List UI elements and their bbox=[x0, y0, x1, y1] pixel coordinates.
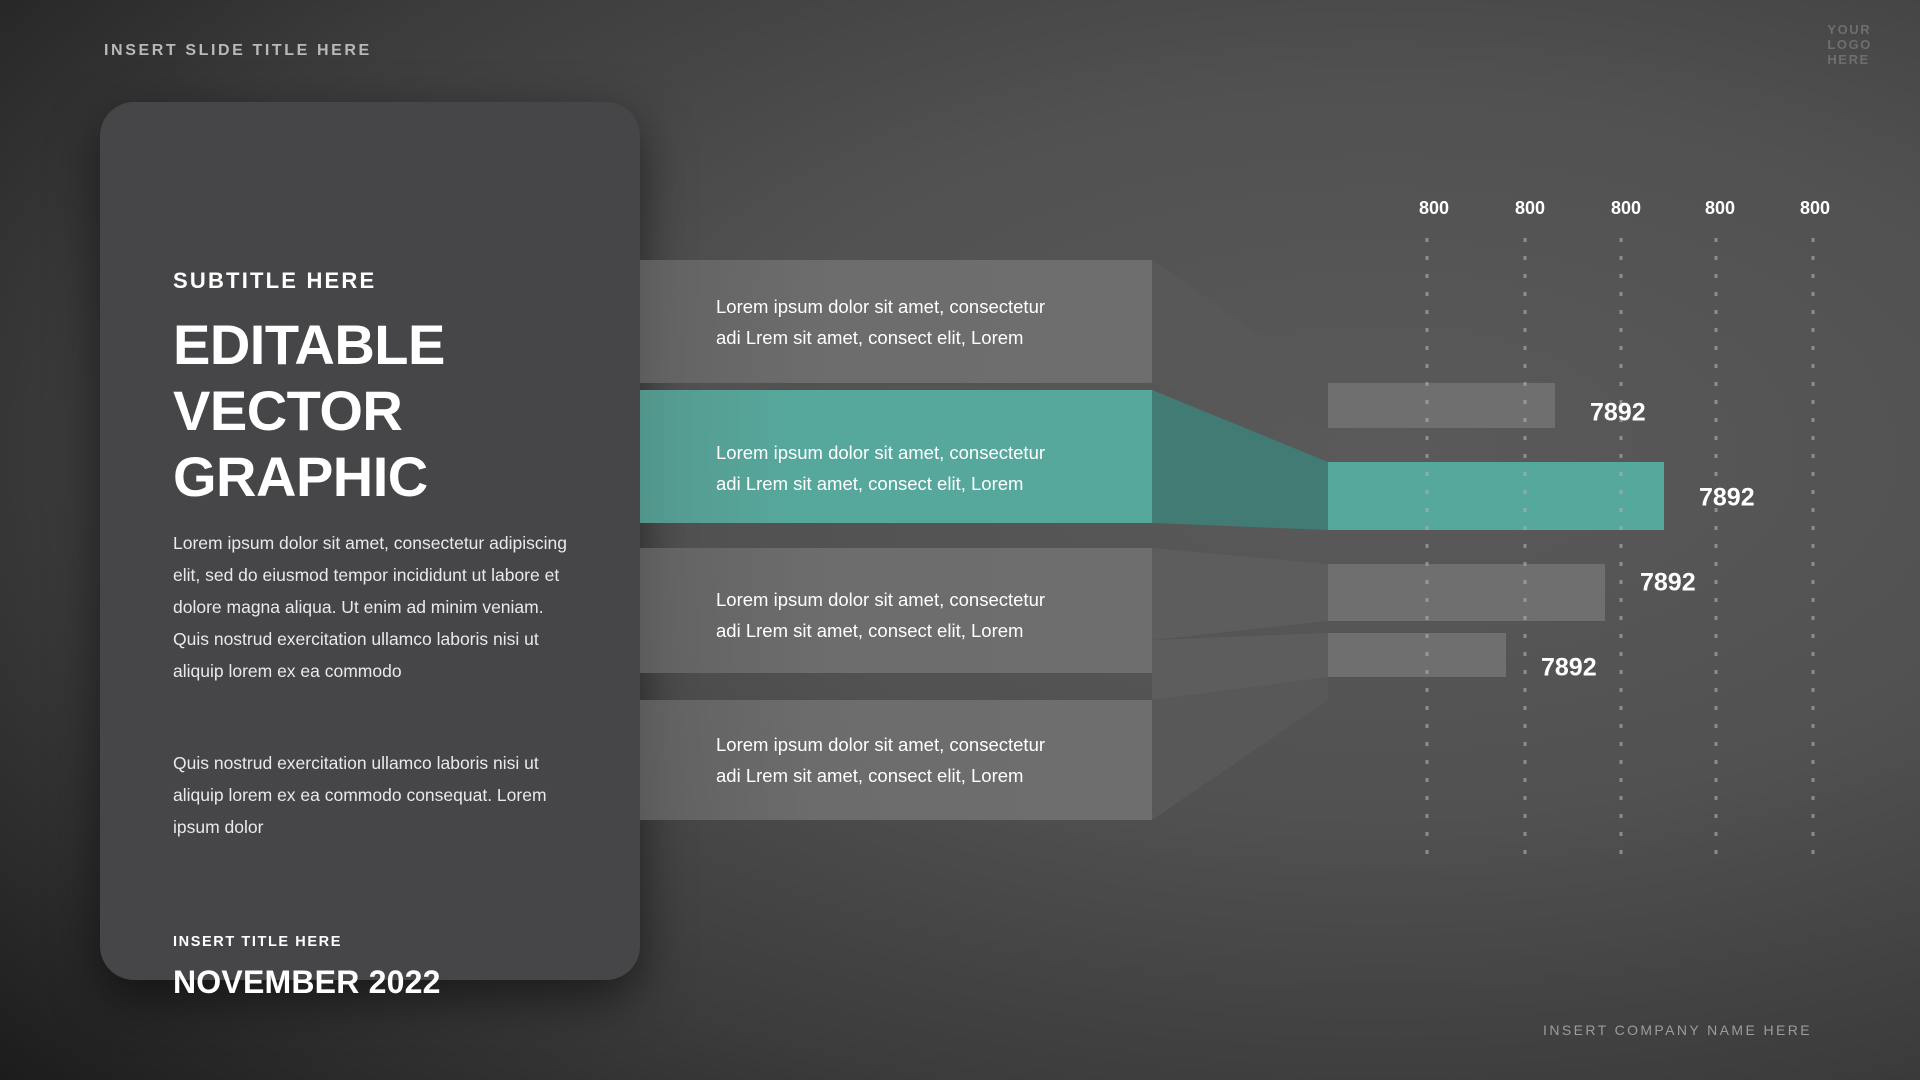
axis-tick-5: 800 bbox=[1800, 198, 1830, 219]
funnel-row-2-bar bbox=[1328, 462, 1664, 530]
bar-value-1: 7892 bbox=[1590, 399, 1646, 428]
bar-value-2: 7892 bbox=[1699, 484, 1755, 513]
funnel-row-3-connector bbox=[1152, 548, 1328, 640]
gridline-5 bbox=[1812, 238, 1815, 858]
gridline-3 bbox=[1620, 238, 1623, 858]
axis-tick-1: 800 bbox=[1419, 198, 1449, 219]
funnel-row-3-label-line-2: adi Lrem sit amet, consect elit, Lorem bbox=[716, 615, 1045, 646]
funnel-row-2-label: Lorem ipsum dolor sit amet, consectetur … bbox=[716, 437, 1045, 499]
funnel-row-3-label: Lorem ipsum dolor sit amet, consectetur … bbox=[716, 584, 1045, 646]
funnel-row-1-bar bbox=[1328, 383, 1555, 428]
funnel-row-4-label-line-1: Lorem ipsum dolor sit amet, consectetur bbox=[716, 729, 1045, 760]
gridline-1 bbox=[1426, 238, 1429, 858]
funnel-row-1-label-line-1: Lorem ipsum dolor sit amet, consectetur bbox=[716, 291, 1045, 322]
funnel-chart bbox=[0, 0, 1920, 1080]
footer-company-name: INSERT COMPANY NAME HERE bbox=[1543, 1022, 1812, 1038]
axis-tick-2: 800 bbox=[1515, 198, 1545, 219]
bar-value-4: 7892 bbox=[1541, 654, 1597, 683]
funnel-row-4-bar bbox=[1328, 633, 1506, 677]
funnel-row-4-connector bbox=[1152, 677, 1328, 820]
axis-tick-4: 800 bbox=[1705, 198, 1735, 219]
bar-value-3: 7892 bbox=[1640, 569, 1696, 598]
funnel-row-3-label-line-1: Lorem ipsum dolor sit amet, consectetur bbox=[716, 584, 1045, 615]
slide-canvas: INSERT SLIDE TITLE HERE YOUR LOGO HERE S… bbox=[0, 0, 1920, 1080]
gridline-2 bbox=[1524, 238, 1527, 858]
axis-tick-3: 800 bbox=[1611, 198, 1641, 219]
funnel-row-4-label-line-2: adi Lrem sit amet, consect elit, Lorem bbox=[716, 760, 1045, 791]
funnel-row-3-bar bbox=[1328, 564, 1605, 621]
funnel-row-2-label-line-1: Lorem ipsum dolor sit amet, consectetur bbox=[716, 437, 1045, 468]
funnel-row-4-label: Lorem ipsum dolor sit amet, consectetur … bbox=[716, 729, 1045, 791]
gridline-4 bbox=[1715, 238, 1718, 858]
funnel-row-2-label-line-2: adi Lrem sit amet, consect elit, Lorem bbox=[716, 468, 1045, 499]
funnel-row-1-label: Lorem ipsum dolor sit amet, consectetur … bbox=[716, 291, 1045, 353]
funnel-row-1-label-line-2: adi Lrem sit amet, consect elit, Lorem bbox=[716, 322, 1045, 353]
